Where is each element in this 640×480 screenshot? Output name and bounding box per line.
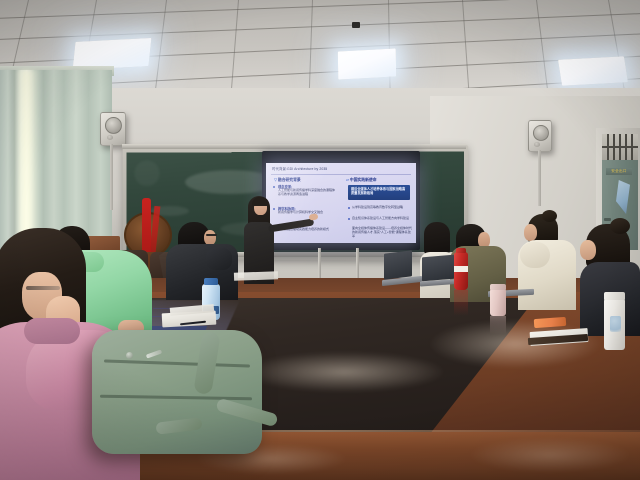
- table-highlight-1: [244, 352, 444, 392]
- speaker-conduit-right: [538, 150, 541, 206]
- pink-tumbler[interactable]: [490, 288, 506, 316]
- attendee-cream-hair-bun: [542, 210, 557, 222]
- table-highlight-2: [430, 320, 600, 368]
- column-title-left-text: 融合研究背景: [278, 178, 301, 182]
- exit-sign-label: 安全出口: [606, 168, 632, 175]
- column-marker-right: ▱: [346, 178, 349, 182]
- presentation-screen[interactable]: 时代背景:GDI Architecture by 2035 ▽融合研究背景 理念…: [266, 163, 416, 243]
- white-tumbler-print-icon: [610, 316, 621, 332]
- column-marker-left: ▽: [274, 178, 277, 182]
- block-body: 人工智能与新闻传播学科深度融合的课程体系与教学资源再造进程: [278, 189, 336, 197]
- slide-bullet-right-1: 从学科建设到高等教育数字化转型战略: [352, 206, 410, 210]
- blue-bottle-cap: [204, 278, 218, 285]
- green-backpack[interactable]: [92, 330, 262, 454]
- door-handle[interactable]: [604, 218, 611, 221]
- slide-column-title-left: ▽融合研究背景: [274, 177, 301, 183]
- slide-bullet-right-2: 自主知识体系建设与人工智能方向学科建设: [352, 217, 410, 221]
- wall-speaker-right: [528, 120, 552, 152]
- table-front-shine-3: [470, 438, 630, 472]
- pink-tumbler-reflection: [490, 316, 506, 334]
- speaker-conduit-left: [110, 144, 113, 210]
- ceiling-led-panel-center: [338, 48, 396, 79]
- attendee-dark-left-head: [204, 230, 216, 245]
- bullet-text: 面向全媒体传播体系建设——培养全媒体时代的新闻传播人才,落实"人工+智能"课程体…: [352, 227, 412, 239]
- attendee-dark-left-arm: [206, 248, 232, 270]
- attendee-pink-collar: [24, 318, 80, 344]
- bullet-text: 自主知识体系建设与人工智能方向学科建设: [352, 217, 410, 221]
- attendee-dark-left-glasses-icon: [206, 234, 217, 236]
- papers-far: [234, 271, 278, 281]
- slide-block-left-2: 跨学科协同: 新闻传播学与计算机科学交叉融合: [278, 207, 336, 215]
- presenter-fringe: [252, 197, 269, 206]
- block-body: 新闻传播学与计算机科学交叉融合: [278, 211, 336, 215]
- smoke-detector-icon: [352, 22, 360, 28]
- attendee-pink-glasses-icon: [26, 286, 60, 290]
- column-title-right-text: 中国实践新使命: [350, 178, 377, 182]
- laptop-2-screen[interactable]: [422, 255, 454, 282]
- red-thermos-cap: [456, 248, 466, 253]
- slide-column-title-right: ▱中国实践新使命: [346, 177, 377, 183]
- slide-highlight-box: 建设全媒体人才培养体系与国家战略高质量发展新格局: [348, 185, 410, 200]
- classroom-photo-scene: 安全出口 时代背景:GDI Architecture by 2035 ▽融合研究…: [0, 0, 640, 480]
- attendee-white-mid-hair: [424, 222, 450, 256]
- bullet-text: 从学科建设到高等教育数字化转型战略: [352, 206, 410, 210]
- wall-speaker-left: [100, 112, 126, 146]
- slide-bullet-right-3: 面向全媒体传播体系建设——培养全媒体时代的新闻传播人才,落实"人工+智能"课程体…: [352, 227, 412, 239]
- red-thermos-band: [454, 266, 468, 272]
- attendee-cream-head: [524, 224, 537, 241]
- attendee-dark-right-head: [580, 240, 596, 260]
- laptop-1-screen[interactable]: [384, 250, 412, 279]
- transom-window: [602, 134, 638, 160]
- slide-block-left-1: 理念变革: 人工智能与新闻传播学科深度融合的课程体系与教学资源再造进程: [278, 185, 336, 197]
- slide-header: 时代背景:GDI Architecture by 2035: [272, 166, 410, 172]
- pink-tumbler-lid: [490, 284, 506, 290]
- attendee-cream-hood: [520, 242, 550, 268]
- attendee-dark-right-hair-bun: [610, 218, 630, 234]
- ceiling-led-panel-right: [558, 56, 628, 85]
- chalkboard-top-rail: [122, 144, 466, 149]
- white-tumbler-lid: [604, 292, 625, 300]
- red-thermos-reflection: [454, 290, 468, 316]
- backpack-clip-icon: [126, 352, 133, 359]
